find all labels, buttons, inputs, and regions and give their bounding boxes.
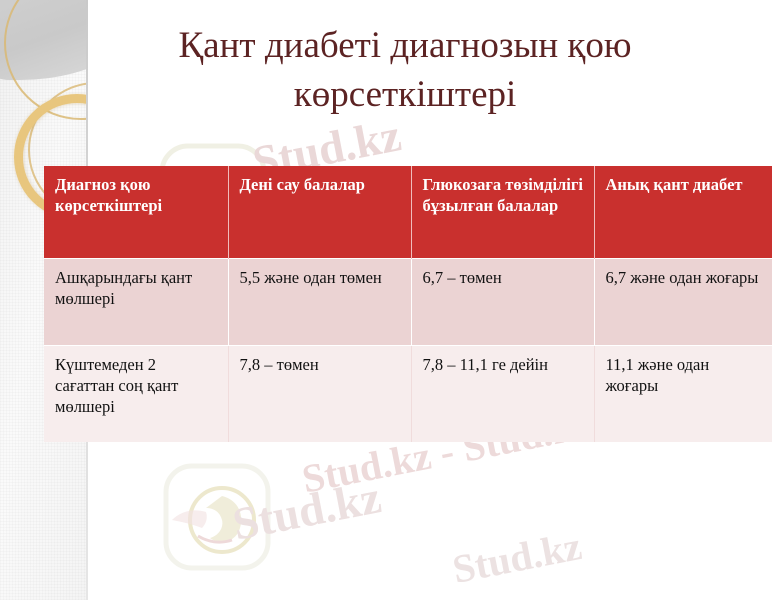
column-header-indicator: Диагноз қою көрсеткіштері [44,166,228,259]
slide-title-line-1: Қант диабеті диагнозын қою [105,22,705,71]
cell-impaired: 6,7 – төмен [411,259,594,346]
table-header-row: Диагноз қою көрсеткіштері Дені сау балал… [44,166,772,259]
stud-kz-bird-logo-watermark [162,462,272,577]
cell-impaired: 7,8 – 11,1 ге дейін [411,346,594,443]
cell-diabetes: 11,1 және одан жоғары [594,346,772,443]
watermark-text: Stud.kz [449,522,586,593]
diagnosis-criteria-table-wrapper: Диагноз қою көрсеткіштері Дені сау балал… [44,166,772,442]
table-row: Ашқарындағы қант мөлшері 5,5 және одан т… [44,259,772,346]
table-header: Диагноз қою көрсеткіштері Дені сау балал… [44,166,772,259]
cell-healthy: 7,8 – төмен [228,346,411,443]
column-header-impaired-glucose-tolerance: Глюкозаға төзімділігі бұзылған балалар [411,166,594,259]
watermark-text: Stud.kz [228,470,385,551]
column-header-healthy-children: Дені сау балалар [228,166,411,259]
cell-indicator: Ашқарындағы қант мөлшері [44,259,228,346]
diagnosis-criteria-table: Диагноз қою көрсеткіштері Дені сау балал… [44,166,772,442]
table-row: Күштемеден 2 сағаттан соң қант мөлшері 7… [44,346,772,443]
column-header-definite-diabetes: Анық қант диабет [594,166,772,259]
table-body: Ашқарындағы қант мөлшері 5,5 және одан т… [44,259,772,443]
slide-title: Қант диабеті диагнозын қою көрсеткіштері [105,22,705,120]
slide-title-line-2: көрсеткіштері [105,71,705,120]
cell-indicator: Күштемеден 2 сағаттан соң қант мөлшері [44,346,228,443]
cell-diabetes: 6,7 және одан жоғары [594,259,772,346]
cell-healthy: 5,5 және одан төмен [228,259,411,346]
